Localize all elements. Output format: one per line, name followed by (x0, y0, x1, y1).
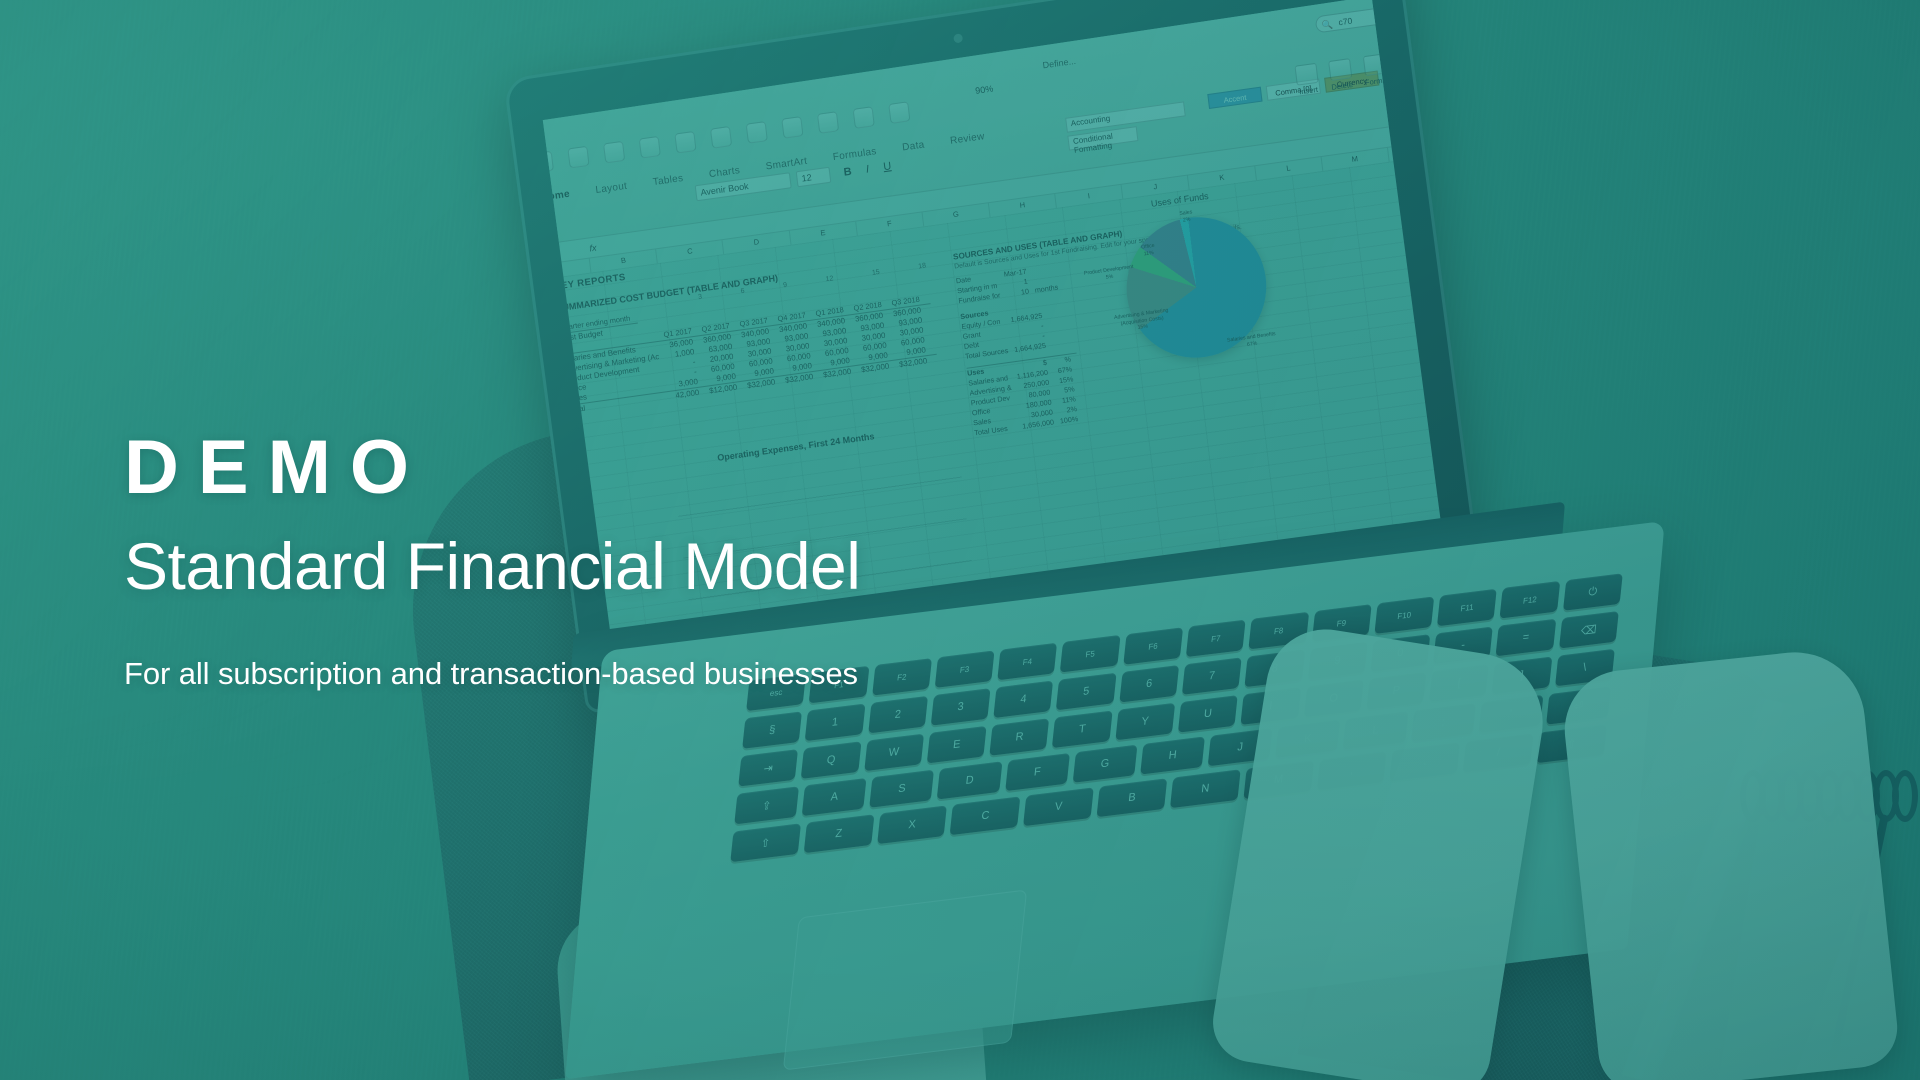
page-title: Standard Financial Model (124, 530, 860, 604)
headline-block: DEMO Standard Financial Model For all su… (124, 430, 860, 692)
eyebrow-demo: DEMO (124, 430, 860, 506)
slide-canvas: c70 (0, 0, 1920, 1080)
tagline: For all subscription and transaction-bas… (124, 656, 860, 692)
